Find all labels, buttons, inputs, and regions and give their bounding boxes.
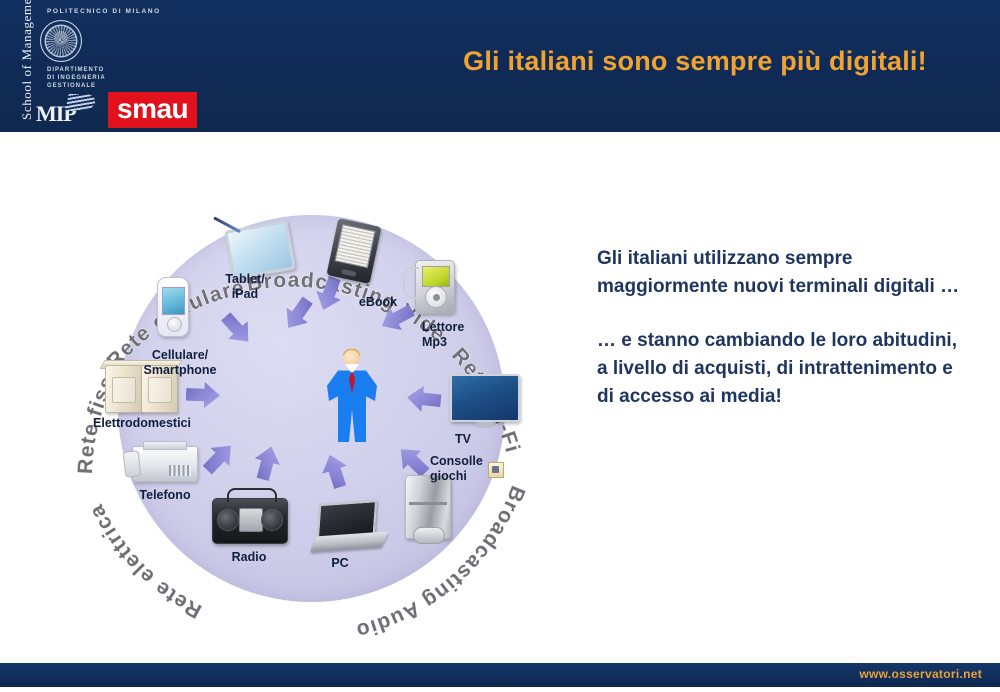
body-paragraph-2: … e stanno cambiando le loro abitudini, …: [597, 327, 967, 411]
mip-swoosh-icon: [65, 94, 97, 111]
school-of-management-label: School of Management: [19, 0, 35, 120]
footer-url-link[interactable]: www.osservatori.net: [859, 667, 982, 681]
device-pc: [312, 502, 388, 548]
smau-logo: smau: [108, 92, 197, 128]
device-label-tablet: Tablet/ iPad: [210, 272, 280, 302]
device-label-tv: TV: [435, 432, 491, 447]
device-smartphone: [157, 277, 189, 337]
device-label-pc: PC: [312, 556, 368, 571]
game-console-icon: [405, 475, 451, 539]
radio-icon: [212, 498, 288, 544]
device-tablet: [228, 225, 292, 275]
device-mp3: [415, 260, 455, 314]
central-user-figure: [327, 350, 377, 442]
device-label-ebook: eBook: [350, 295, 406, 310]
department-label: DIPARTIMENTO DI INGEGNERIA GESTIONALE: [47, 66, 106, 90]
television-icon: [450, 374, 520, 422]
politecnico-label: POLITECNICO DI MILANO: [47, 8, 161, 15]
slide: School of Management POLITECNICO DI MILA…: [0, 0, 1000, 692]
device-label-telefono: Telefono: [130, 488, 200, 503]
header-bar: School of Management POLITECNICO DI MILA…: [0, 0, 1000, 132]
device-label-mp3: Lettore Mp3: [422, 320, 492, 350]
fax-phone-icon: [132, 446, 198, 482]
laptop-icon: [310, 499, 389, 550]
body-text-block: Gli italiani utilizzano sempre maggiorme…: [597, 245, 967, 411]
mip-logo: MIP: [36, 92, 94, 124]
footer-bar: www.osservatori.net: [0, 663, 1000, 687]
device-radio: [212, 498, 288, 544]
ring-label-rete-elettrica: Rete elettrica: [85, 500, 206, 622]
device-label-radio: Radio: [221, 550, 277, 565]
device-label-elettrodomestici: Elettrodomestici: [78, 416, 206, 431]
device-telefono: [132, 446, 198, 482]
politecnico-seal-icon: [40, 20, 82, 62]
mp3-player-icon: [415, 260, 455, 314]
device-label-console: Consolle giochi: [430, 454, 498, 484]
digital-terminals-diagram: Rete fissa Rete cellulare Broadcasting V…: [40, 150, 560, 630]
device-tv: [450, 374, 520, 422]
ebook-icon: [326, 218, 381, 284]
smartphone-icon: [157, 277, 189, 337]
page-title: Gli italiani sono sempre più digitali!: [400, 46, 990, 77]
device-console: [405, 475, 451, 539]
device-ebook: [332, 222, 376, 280]
body-paragraph-1: Gli italiani utilizzano sempre maggiorme…: [597, 245, 967, 301]
device-label-smartphone: Cellulare/ Smartphone: [125, 348, 235, 378]
